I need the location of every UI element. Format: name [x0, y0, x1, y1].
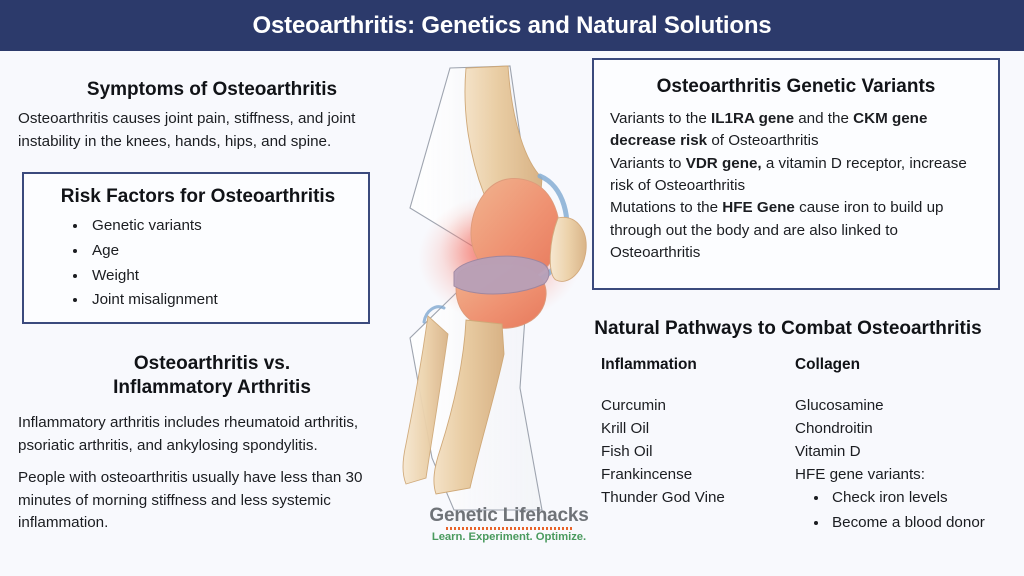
list-item: Krill Oil: [601, 417, 791, 440]
dotted-rule-icon: [446, 527, 572, 530]
list-item: Curcumin: [601, 394, 791, 417]
genetic-variants-body: Variants to the IL1RA gene and the CKM g…: [610, 108, 988, 264]
comparison-paragraph-1: Inflammatory arthritis includes rheumato…: [18, 412, 418, 457]
brand-logo: Genetic Lifehacks Learn. Experiment. Opt…: [424, 506, 594, 544]
symptoms-heading: Symptoms of Osteoarthritis: [12, 78, 412, 102]
list-item: Check iron levels: [829, 486, 1015, 511]
comparison-heading-line1: Osteoarthritis vs.: [10, 352, 414, 376]
list-item: Age: [88, 239, 218, 264]
genetic-variant-paragraph: Variants to the IL1RA gene and the CKM g…: [610, 108, 988, 153]
risk-factors-box: Risk Factors for Osteoarthritis Genetic …: [22, 172, 370, 324]
hfe-sub-list: Check iron levels Become a blood donor: [795, 486, 1015, 535]
infographic-page: Osteoarthritis: Genetics and Natural Sol…: [0, 0, 1024, 576]
list-item: Thunder God Vine: [601, 486, 791, 509]
pathway-column-heading: Inflammation: [601, 356, 791, 374]
comparison-heading-line2: Inflammatory Arthritis: [10, 376, 414, 400]
list-item: Vitamin D: [795, 440, 1015, 463]
list-item: Chondroitin: [795, 417, 1015, 440]
knee-joint-osteoarthritis-illustration: [392, 58, 607, 518]
risk-factors-heading: Risk Factors for Osteoarthritis: [24, 186, 372, 208]
risk-factors-list: Genetic variants Age Weight Joint misali…: [68, 214, 218, 313]
brand-tagline: Learn. Experiment. Optimize.: [424, 531, 594, 545]
comparison-paragraph-2: People with osteoarthritis usually have …: [18, 467, 416, 535]
genetic-variant-paragraph: Variants to VDR gene, a vitamin D recept…: [610, 153, 988, 198]
natural-pathways-heading: Natural Pathways to Combat Osteoarthriti…: [564, 318, 1012, 340]
list-item: Glucosamine: [795, 394, 1015, 417]
comparison-heading: Osteoarthritis vs. Inflammatory Arthriti…: [10, 352, 414, 400]
list-item: Weight: [88, 264, 218, 289]
brand-name: Genetic Lifehacks: [424, 506, 594, 526]
pathway-column-collagen: Collagen Glucosamine Chondroitin Vitamin…: [795, 356, 1015, 536]
list-item: Fish Oil: [601, 440, 791, 463]
genetic-variants-box: Osteoarthritis Genetic Variants Variants…: [592, 58, 1000, 290]
genetic-variants-heading: Osteoarthritis Genetic Variants: [594, 76, 998, 98]
page-title: Osteoarthritis: Genetics and Natural Sol…: [0, 0, 1024, 51]
pathway-column-inflammation: Inflammation Curcumin Krill Oil Fish Oil…: [601, 356, 791, 509]
list-item: Joint misalignment: [88, 288, 218, 313]
genetic-variant-paragraph: Mutations to the HFE Gene cause iron to …: [610, 197, 988, 264]
list-item: HFE gene variants:: [795, 463, 1015, 486]
list-item: Genetic variants: [88, 214, 218, 239]
list-item: Become a blood donor: [829, 511, 1015, 536]
symptoms-body-text: Osteoarthritis causes joint pain, stiffn…: [18, 108, 414, 153]
pathway-column-heading: Collagen: [795, 356, 1015, 374]
list-item: Frankincense: [601, 463, 791, 486]
